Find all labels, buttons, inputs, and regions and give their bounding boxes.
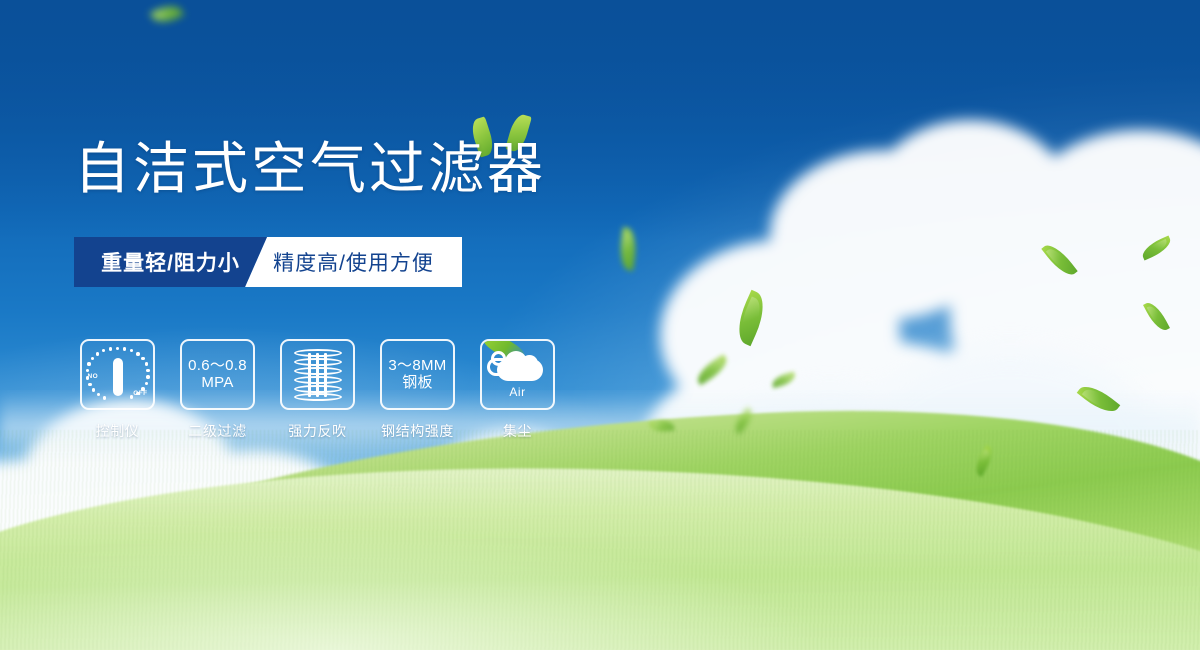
feature-label: 集尘 [503, 421, 532, 441]
feature-list: NO OFF 控制仪 0.6～0.8 MPA 二级过滤 [80, 339, 555, 441]
feature-icon-box: 0.6～0.8 MPA [180, 339, 255, 410]
gauge-label-no: NO [88, 373, 99, 380]
pressure-text-icon: 0.6～0.8 MPA [188, 358, 247, 392]
feature-item-two-stage-filter[interactable]: 0.6～0.8 MPA 二级过滤 [180, 339, 255, 441]
air-cloud-icon: Air [487, 347, 549, 403]
feature-label: 强力反吹 [288, 421, 346, 441]
feature-icon-box: Air [480, 339, 555, 410]
feature-label: 钢结构强度 [381, 421, 454, 441]
gauge-label-off: OFF [133, 390, 147, 397]
feature-icon-box: NO OFF [80, 339, 155, 410]
feature-item-steel-strength[interactable]: 3～8MM 钢板 钢结构强度 [380, 339, 455, 441]
page-title: 自洁式空气过滤器 [74, 141, 546, 197]
feature-item-controller[interactable]: NO OFF 控制仪 [80, 339, 155, 441]
subtitle-bar: 重量轻/阻力小 精度高/使用方便 [74, 237, 462, 287]
product-banner: 自洁式空气过滤器 重量轻/阻力小 精度高/使用方便 [0, 0, 1200, 650]
gauge-dial-icon: NO OFF [87, 346, 149, 404]
feature-label: 二级过滤 [188, 421, 246, 441]
grass-glow [0, 480, 1200, 650]
feature-item-backblow[interactable]: 强力反吹 [280, 339, 355, 441]
gauge-needle [113, 358, 123, 396]
subtitle-right-panel: 精度高/使用方便 [245, 237, 462, 287]
coil-filter-icon [294, 349, 342, 401]
feature-item-dust-collection[interactable]: Air 集尘 [480, 339, 555, 441]
feature-icon-box: 3～8MM 钢板 [380, 339, 455, 410]
steel-plate-text-icon: 3～8MM 钢板 [388, 358, 446, 392]
air-label: Air [487, 385, 549, 399]
subtitle-left-panel: 重量轻/阻力小 [74, 237, 267, 287]
feature-label: 控制仪 [96, 421, 140, 441]
feature-icon-box [280, 339, 355, 410]
